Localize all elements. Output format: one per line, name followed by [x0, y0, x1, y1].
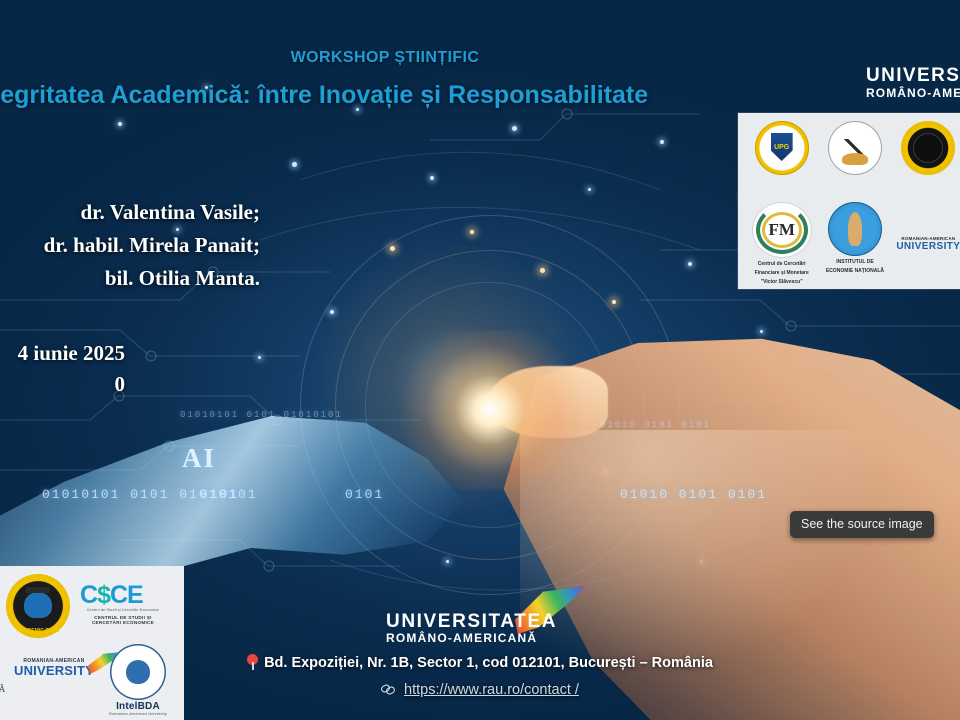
logo-national-economy-institute: INSTITUTUL DE ECONOMIE NAȚIONALĂ — [819, 202, 890, 285]
contact-url-row[interactable]: https://www.rau.ro/contact / — [0, 682, 960, 698]
wordmark-line1: UNIVERSITATEA — [866, 66, 960, 86]
ai-label: AI — [182, 443, 216, 474]
speaker-item: bil. Otilia Manta. — [0, 262, 260, 295]
event-date: 4 iunie 2025 — [0, 338, 125, 369]
fm-caption-line3: "Victor Slăvescu" — [761, 279, 803, 285]
binary-strip-small: 01010101 0101 01010101 — [180, 410, 343, 420]
ura-center-line2: ROMÂNO-AMERICANĂ — [386, 632, 557, 645]
ien-caption-line2: ECONOMIE NAȚIONALĂ — [826, 268, 884, 274]
binary-strip: 0101 — [200, 487, 239, 502]
csce-dollar: $ — [97, 581, 110, 609]
logo-romanian-american-university: ROMANIAN-AMERICAN UNIVERSITY — [893, 202, 960, 285]
speaker-item: dr. Valentina Vasile; — [0, 196, 260, 229]
link-chain-icon — [381, 683, 397, 696]
university-wordmark-center: UNIVERSITATEA ROMÂNO-AMERICANĂ — [386, 612, 557, 645]
speaker-list: dr. Valentina Vasile; dr. habil. Mirela … — [0, 196, 260, 295]
touch-point-glow — [390, 330, 590, 490]
wordmark-line2: ROMÂNO-AMERICAN — [866, 86, 960, 100]
csce-pre: C — [80, 581, 97, 609]
page-title: și Integritatea Academică: între Inovați… — [0, 81, 800, 110]
economic-studies-seal-icon — [828, 121, 882, 175]
see-source-image-tooltip[interactable]: See the source image — [790, 511, 934, 538]
contact-address: Bd. Expoziției, Nr. 1B, Sector 1, cod 01… — [0, 654, 960, 671]
event-datetime: 4 iunie 2025 0 — [0, 338, 125, 400]
speaker-item: dr. habil. Mirela Panait; — [0, 229, 260, 262]
contact-url-link[interactable]: https://www.rau.ro/contact / — [404, 682, 579, 698]
csce-logo: C$CE Centrul de Studii și Cercetări Econ… — [80, 582, 166, 625]
logo-fm-center: FM Centrul de Cercetări Financiare și Mo… — [746, 202, 817, 285]
upg-club-bottom-text: ACADEMIC CLUB — [6, 628, 70, 634]
workshop-kicker: WORKSHOP ȘTIINȚIFIC — [0, 49, 770, 67]
ura-center-line1: UNIVERSITATEA — [386, 612, 557, 632]
map-pin-icon — [247, 654, 258, 670]
upg-seal-icon — [755, 121, 809, 175]
csce-post: CE — [110, 581, 143, 609]
binary-strip: 01010 0101 0101 — [620, 487, 767, 502]
national-economy-seal-icon — [828, 202, 882, 256]
event-time: 0 — [0, 369, 125, 400]
binary-strip: 0101 — [345, 487, 384, 502]
logo-economic-studies — [819, 121, 890, 200]
binary-strip-small: 01010 0101 0101 — [600, 420, 711, 430]
address-text: Bd. Expoziției, Nr. 1B, Sector 1, cod 01… — [264, 655, 713, 671]
ien-caption-line1: INSTITUTUL DE — [836, 259, 873, 265]
csce-wordmark: C$CE — [80, 582, 166, 608]
logo-academia — [893, 121, 960, 200]
fm-caption-line1: Centrul de Cercetări — [758, 261, 806, 267]
intelbda-subtitle: Romanian-American University — [100, 712, 176, 716]
csce-subtitle-small: Centrul de Studii și Cercetări Economice — [80, 608, 166, 612]
fm-monogram: FM — [752, 202, 812, 258]
fm-caption-line2: Financiare și Monetare — [755, 270, 809, 276]
ura-mini-line2: UNIVERSITY — [896, 241, 960, 252]
logo-upg-ploiesti — [746, 121, 817, 200]
partner-logo-panel-top-right: FM Centrul de Cercetări Financiare și Mo… — [738, 113, 960, 289]
fm-seal-icon: FM — [752, 202, 812, 258]
intelbda-name: IntelBDA — [100, 701, 176, 712]
csce-subtitle: CENTRUL DE STUDII ȘI CERCETĂRI ECONOMICE — [80, 615, 166, 625]
academia-seal-icon — [901, 121, 955, 175]
upg-club-top-text: UPG — [6, 577, 70, 583]
poster-image: AI 01010101 0101 01010101 0101 0101 0101… — [0, 0, 960, 720]
university-wordmark-top: UNIVERSITATEA ROMÂNO-AMERICAN — [866, 66, 960, 100]
upg-academic-club-icon: UPG ACADEMIC CLUB — [6, 574, 70, 638]
